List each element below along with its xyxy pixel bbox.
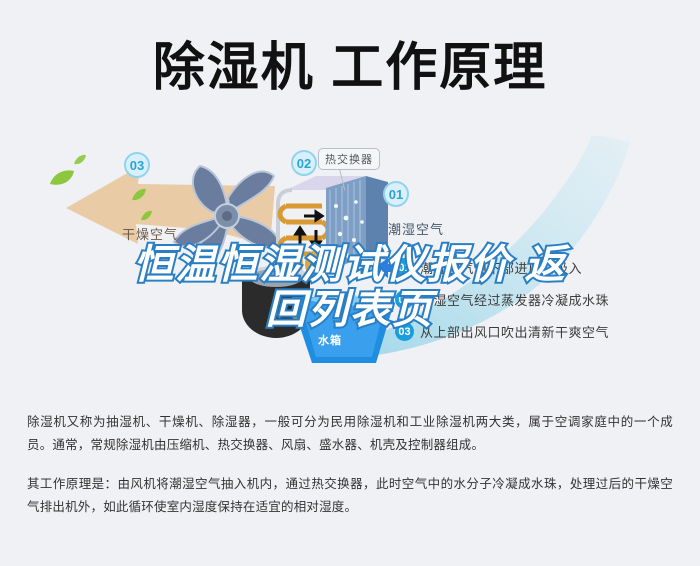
body-text: 除湿机又称为抽湿机、干燥机、除湿器，一般可分为民用除湿机和工业除湿机两大类，属于… — [0, 411, 700, 535]
header: 除湿机 工作原理 — [0, 0, 700, 136]
legend-item: 02 潮湿空气经过蒸发器冷凝成水珠 — [395, 290, 695, 309]
leaf-icon — [48, 168, 76, 188]
callout-01-badge: 01 — [383, 181, 409, 207]
legend-item: 01 潮湿空气由下部进风口吸入 — [395, 258, 695, 277]
callout-01-label: 潮湿空气 — [388, 219, 444, 238]
callout-03-label: 干燥空气 — [122, 224, 178, 243]
legend-label: 潮湿空气经过蒸发器冷凝成水珠 — [420, 290, 609, 309]
leaf-icon — [140, 210, 153, 222]
heat-exchanger-tooltip: 热交换器 — [318, 148, 380, 170]
legend-list: 01 潮湿空气由下部进风口吸入 02 潮湿空气经过蒸发器冷凝成水珠 03 从上部… — [395, 258, 695, 354]
legend-item: 03 从上部出风口吹出清新干爽空气 — [395, 322, 695, 341]
legend-label: 从上部出风口吹出清新干爽空气 — [420, 322, 609, 341]
leaf-icon — [73, 154, 87, 166]
legend-badge: 03 — [395, 322, 414, 341]
infographic-stage: 水箱 03 干燥空气 02 热交换器 01 潮湿空气 01 潮湿空气由下部进风口… — [0, 136, 700, 411]
water-tank-icon — [290, 291, 396, 371]
callout-02-badge: 02 — [291, 150, 317, 176]
legend-badge: 01 — [395, 258, 414, 277]
legend-label: 潮湿空气由下部进风口吸入 — [420, 258, 582, 277]
page-title: 除湿机 工作原理 — [153, 42, 547, 94]
legend-badge: 02 — [395, 290, 414, 309]
callout-03-badge: 03 — [124, 152, 150, 178]
paragraph-definition: 除湿机又称为抽湿机、干燥机、除湿器，一般可分为民用除湿机和工业除湿机两大类，属于… — [27, 411, 673, 457]
water-tank-label: 水箱 — [318, 332, 342, 348]
paragraph-principle: 其工作原理是：由风机将潮湿空气抽入机内，通过热交换器，此时空气中的水分子冷凝成水… — [27, 473, 673, 519]
leaf-icon — [131, 188, 147, 202]
